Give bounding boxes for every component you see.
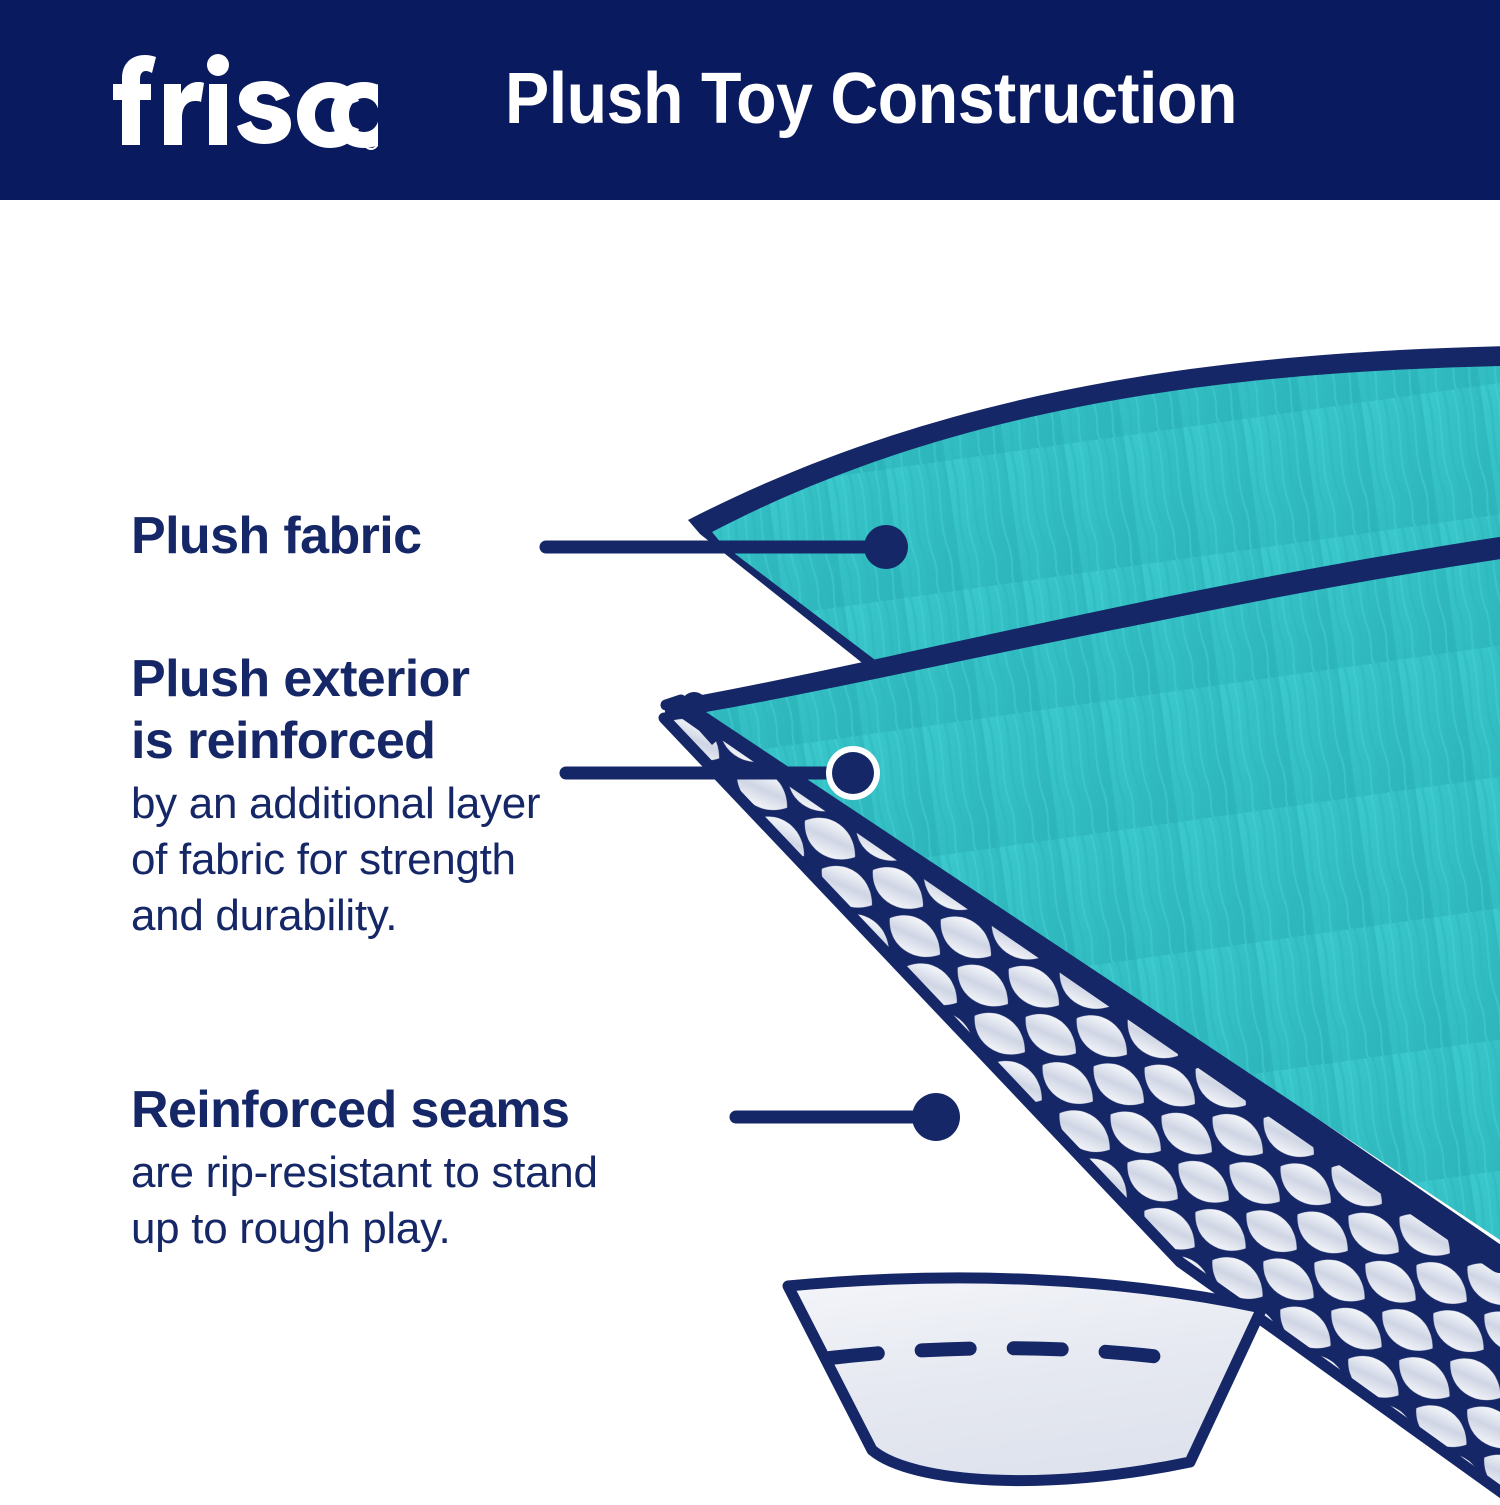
leader-dot-plush-exterior xyxy=(832,752,874,794)
plush-toy-cutaway-illustration xyxy=(0,200,1500,1500)
leader-reinforced-seams xyxy=(736,1093,960,1141)
registered-trademark-mark: R xyxy=(368,138,375,148)
frisco-logo: R xyxy=(78,44,378,156)
leader-dot-plush-fabric xyxy=(864,525,908,569)
header-bar: R Plush Toy Construction xyxy=(0,0,1500,200)
leader-dot-reinforced-seams xyxy=(912,1093,960,1141)
reinforced-seam-layer xyxy=(788,1278,1262,1481)
seam-flap-shape xyxy=(788,1278,1262,1481)
page-title: Plush Toy Construction xyxy=(505,49,1237,149)
infographic-page: R Plush Toy Construction Plush fabric Pl… xyxy=(0,0,1500,1500)
